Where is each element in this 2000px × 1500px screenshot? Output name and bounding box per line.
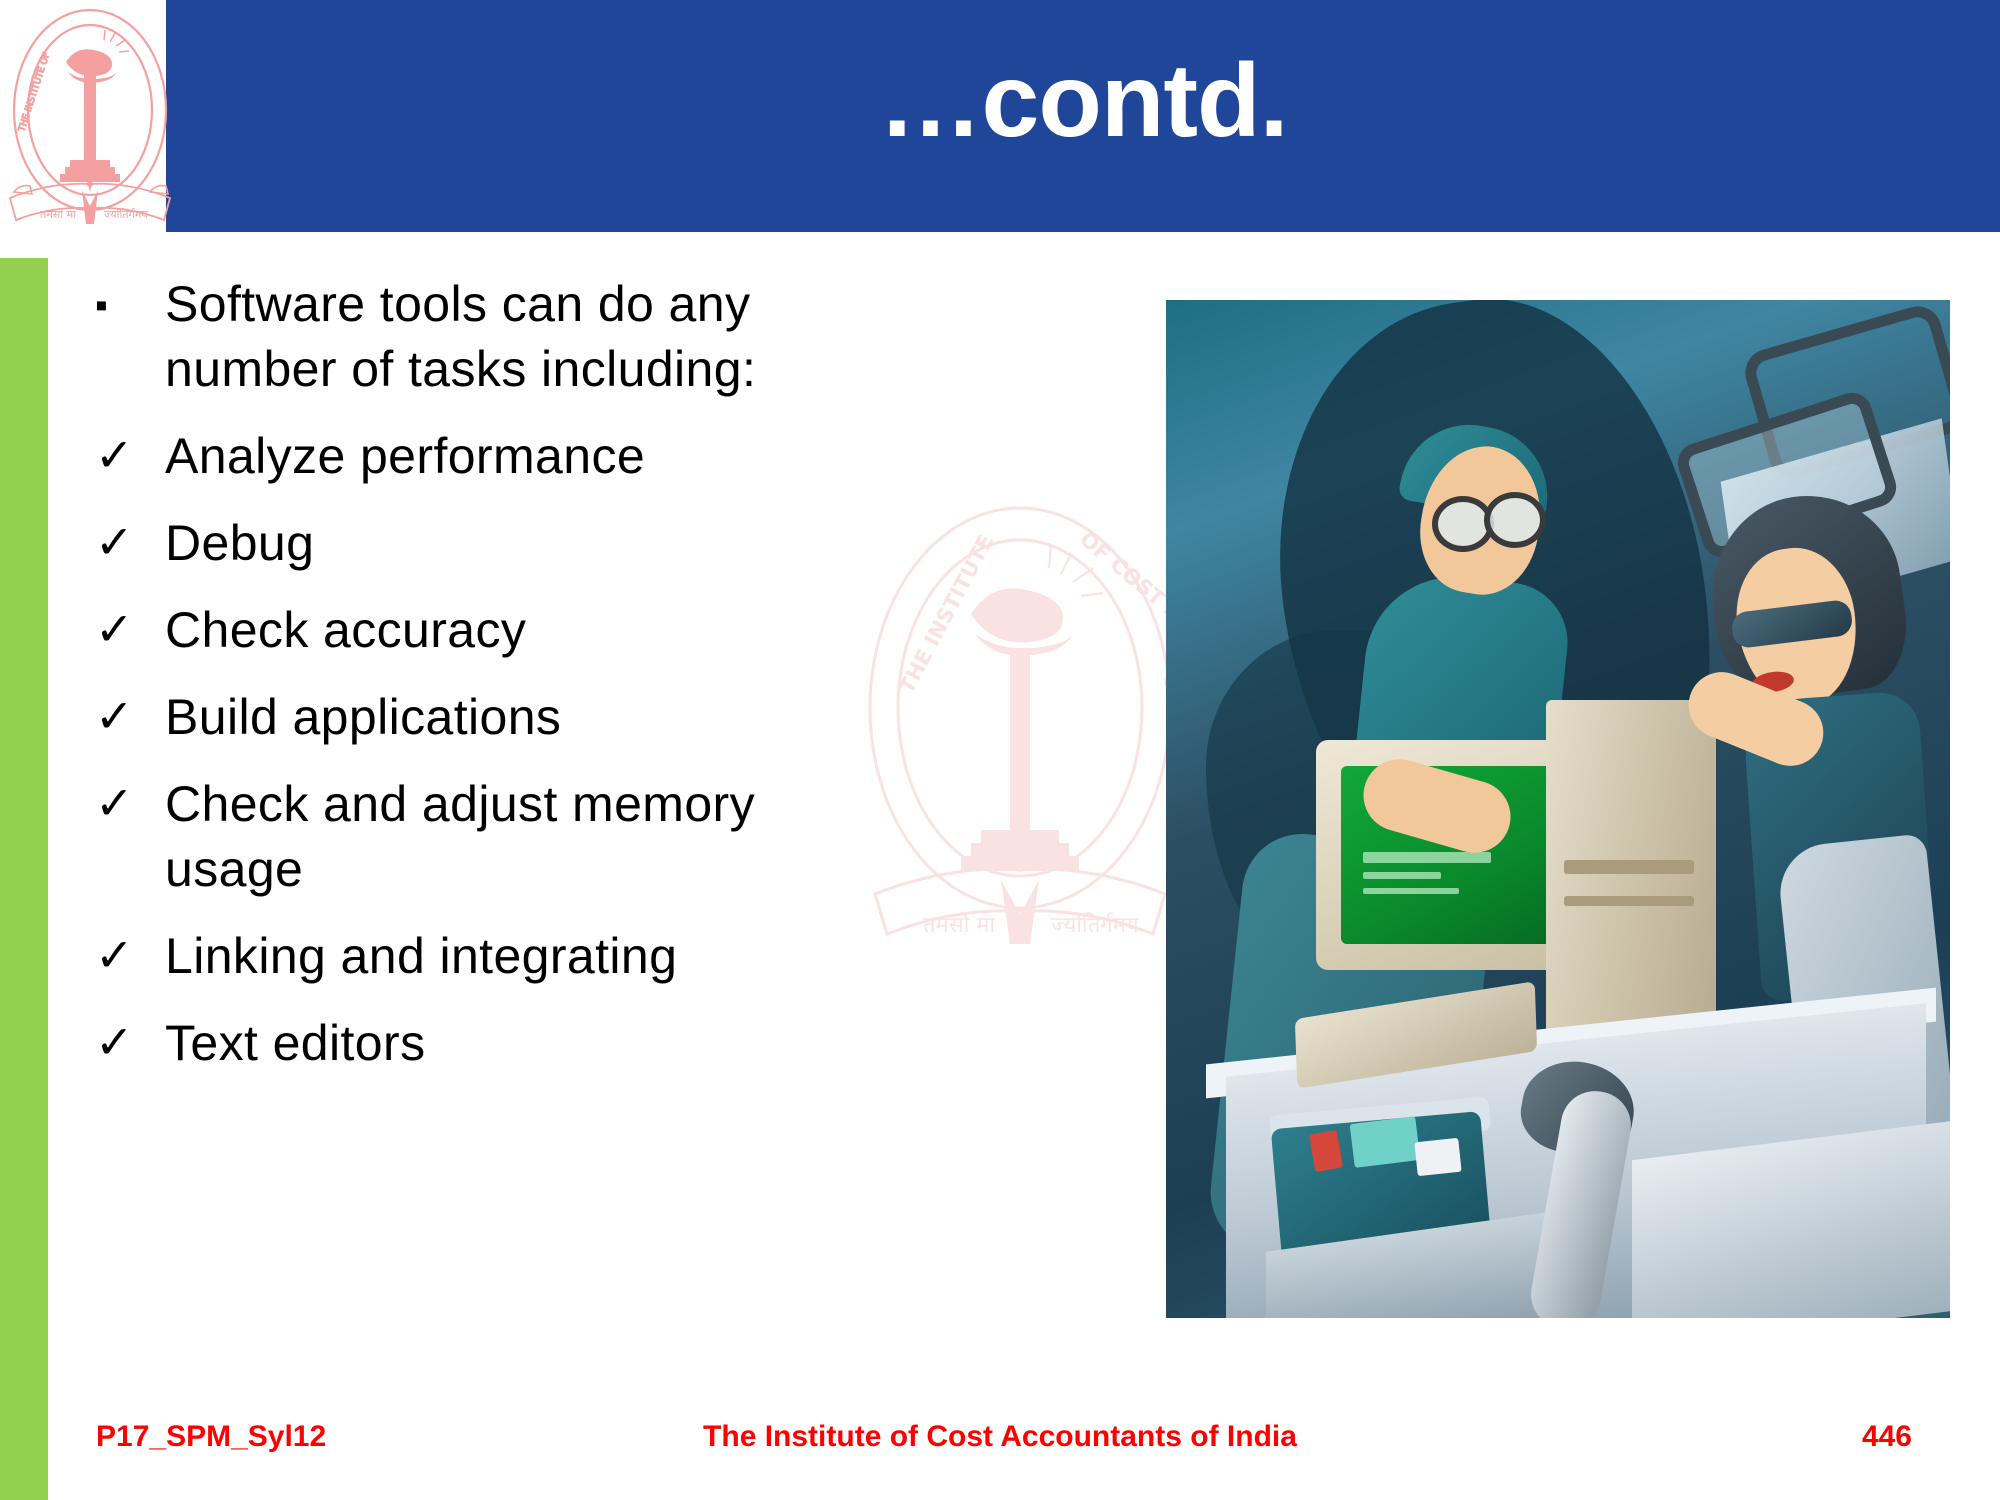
list-item-text: Text editors (165, 1011, 1125, 1076)
list-item-line: number of tasks including: (165, 337, 1125, 402)
bullet-list: ▪ Software tools can do any number of ta… (95, 272, 1125, 1098)
svg-text:ज्योतिर्गमय: ज्योतिर्गमय (104, 208, 148, 221)
list-item-text: Check accuracy (165, 598, 1125, 663)
list-item: ✓ Linking and integrating (95, 924, 1125, 989)
check-mark-icon: ✓ (95, 511, 165, 572)
screen-text-line (1363, 852, 1491, 863)
goggles-icon (1484, 492, 1546, 548)
list-item: ✓ Text editors (95, 1011, 1125, 1076)
list-item-text: Debug (165, 511, 1125, 576)
list-item-text: Build applications (165, 685, 1125, 750)
cartoon-technicians-image (1166, 300, 1950, 1318)
list-item: ✓ Analyze performance (95, 424, 1125, 489)
check-mark-icon: ✓ (95, 1011, 165, 1072)
drive-bay (1564, 860, 1694, 874)
institute-logo-icon: तमसो मा ज्योतिर्गमय THE INSTITUTE OF (4, 2, 176, 254)
list-item: ✓ Debug (95, 511, 1125, 576)
list-item: ✓ Build applications (95, 685, 1125, 750)
list-item-text: Analyze performance (165, 424, 1125, 489)
list-item-text: Linking and integrating (165, 924, 1125, 989)
check-mark-icon: ✓ (95, 685, 165, 746)
left-accent-bar (0, 258, 48, 1500)
screen-text-line (1363, 888, 1459, 894)
list-item-line: Software tools can do any (165, 272, 1125, 337)
svg-text:तमसो मा: तमसो मा (40, 208, 76, 221)
list-item: ▪ Software tools can do any number of ta… (95, 272, 1125, 402)
list-item-text: Software tools can do any number of task… (165, 272, 1125, 402)
check-mark-icon: ✓ (95, 598, 165, 659)
check-mark-icon: ✓ (95, 424, 165, 485)
component-chip (1350, 1116, 1421, 1168)
list-item-line: Check and adjust memory (165, 772, 1125, 837)
check-mark-icon: ✓ (95, 924, 165, 985)
drive-bay (1564, 896, 1694, 906)
slide-footer: P17_SPM_Syl12 The Institute of Cost Acco… (0, 1408, 2000, 1478)
page-title: …contd. (166, 44, 2000, 158)
component-chip (1414, 1138, 1461, 1176)
presentation-slide: …contd. (0, 0, 2000, 1500)
list-item: ✓ Check accuracy (95, 598, 1125, 663)
list-item-line: usage (165, 837, 1125, 902)
check-mark-icon: ✓ (95, 772, 165, 833)
square-bullet-icon: ▪ (95, 272, 165, 328)
list-item: ✓ Check and adjust memory usage (95, 772, 1125, 902)
screen-text-line (1363, 872, 1441, 879)
footer-page-number: 446 (0, 1420, 1912, 1454)
list-item-text: Check and adjust memory usage (165, 772, 1125, 902)
